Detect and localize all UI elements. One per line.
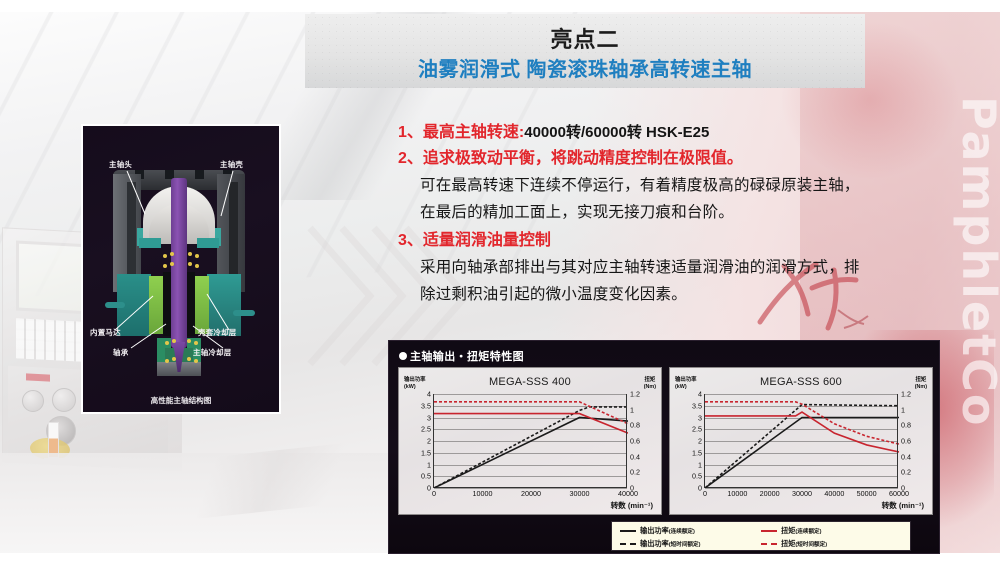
- chart-card-title-text: 主轴输出・扭矩特性图: [410, 351, 524, 363]
- series-layer: [705, 394, 899, 488]
- x-tick-label: 10000: [473, 489, 493, 498]
- feature-item-3: 3、 适量润滑油量控制 采用向轴承部排出与其对应主轴转速适量润滑油的润滑方式，排…: [398, 228, 870, 308]
- y-tick-label: 4: [427, 390, 431, 399]
- y-tick-label: 1.5: [692, 448, 702, 457]
- y-tick-label: 0: [427, 484, 431, 493]
- y-tick-label: 0.5: [692, 472, 702, 481]
- x-tick-label: 20000: [760, 489, 780, 498]
- y-tick-label: 2.5: [421, 425, 431, 434]
- y-tick-label: 1: [698, 460, 702, 469]
- feature-3-heading: 适量润滑油量控制: [423, 228, 551, 253]
- y2-axis-label: 扭矩(Nm): [915, 377, 927, 391]
- feature-3-body: 采用向轴承部排出与其对应主轴转速适量润滑油的润滑方式，排除过剩积油引起的微小温度…: [420, 254, 870, 308]
- legend-item: 输出功率(连续额定): [620, 524, 761, 537]
- x-axis-label: 转数 (min⁻¹): [611, 500, 653, 511]
- chart-card: 主轴输出・扭矩特性图 MEGA-SSS 400输出功率(kW)扭矩(Nm)转数 …: [388, 340, 940, 554]
- chart-title: MEGA-SSS 400: [399, 376, 661, 388]
- legend-swatch: [761, 543, 777, 545]
- y2-tick-label: 0.6: [901, 437, 911, 446]
- chart-card-title: 主轴输出・扭矩特性图: [399, 348, 524, 364]
- right-axis: [897, 394, 898, 487]
- diagram-label-spindle-head: 主轴头: [109, 159, 132, 170]
- feature-2-heading: 追求极致动平衡，将跳动精度控制在极限值。: [423, 146, 743, 171]
- x-axis-label: 转数 (min⁻¹): [882, 500, 924, 511]
- feature-item-1: 1、 最高主轴转速: 40000转/60000转 HSK-E25: [398, 120, 870, 145]
- legend-item: 扭矩(连续额定): [761, 524, 902, 537]
- y2-axis-label: 扭矩(Nm): [644, 377, 656, 391]
- y-tick-label: 2: [698, 437, 702, 446]
- y-tick-label: 1: [427, 460, 431, 469]
- diagram-caption: 高性能主轴结构图: [83, 395, 279, 406]
- legend-label: 扭矩(短时间额定): [781, 539, 827, 549]
- feature-3-number: 3、: [398, 228, 423, 253]
- chart-mega-sss-400: MEGA-SSS 400输出功率(kW)扭矩(Nm)转数 (min⁻¹)00.5…: [398, 367, 662, 515]
- page-title: 亮点二: [305, 22, 865, 54]
- y2-tick-label: 0.8: [630, 421, 640, 430]
- legend-swatch: [761, 530, 777, 532]
- y-tick-label: 2.5: [692, 425, 702, 434]
- chart-title: MEGA-SSS 600: [670, 376, 932, 388]
- feature-item-2: 2、 追求极致动平衡，将跳动精度控制在极限值。 可在最高转速下连续不停运行，有着…: [398, 146, 870, 226]
- y-tick-label: 0.5: [421, 472, 431, 481]
- right-axis: [626, 394, 627, 487]
- y2-tick-label: 0.4: [901, 452, 911, 461]
- filled-circle-icon: [399, 352, 407, 360]
- legend-swatch: [620, 530, 636, 532]
- legend-label: 输出功率(连续额定): [640, 526, 695, 536]
- y-axis-label: 输出功率(kW): [404, 377, 426, 391]
- y2-tick-label: 0.2: [630, 468, 640, 477]
- y-axis-label: 输出功率(kW): [675, 377, 697, 391]
- series-line: [705, 402, 899, 444]
- vertical-watermark: PamphletCo: [952, 96, 1000, 427]
- bottom-white-strip: [0, 553, 1000, 563]
- y-tick-label: 2: [427, 437, 431, 446]
- y2-tick-label: 1: [630, 405, 634, 414]
- legend-label: 扭矩(连续额定): [781, 526, 822, 536]
- diagram-label-bearing: 轴承: [113, 347, 128, 358]
- x-tick-label: 50000: [857, 489, 877, 498]
- y-tick-label: 3: [698, 413, 702, 422]
- feature-2-number: 2、: [398, 146, 423, 171]
- legend-swatch: [620, 543, 636, 545]
- y-tick-label: 3: [427, 413, 431, 422]
- poster-page: PamphletCo 亮点二 油雾润滑式 陶瓷滚珠轴承高转速主轴: [0, 0, 1000, 563]
- top-white-strip: [0, 0, 1000, 12]
- feature-1-heading: 最高主轴转速:: [423, 120, 524, 145]
- y-tick-label: 3.5: [421, 401, 431, 410]
- series-line: [705, 418, 899, 489]
- series-line: [434, 418, 628, 489]
- x-tick-label: 20000: [521, 489, 541, 498]
- y-tick-label: 4: [698, 390, 702, 399]
- diagram-label-spindle-shell: 主轴壳: [220, 159, 243, 170]
- x-tick-label: 0: [703, 489, 707, 498]
- legend-item: 扭矩(短时间额定): [761, 537, 902, 550]
- page-subtitle: 油雾润滑式 陶瓷滚珠轴承高转速主轴: [305, 53, 865, 82]
- x-tick-label: 60000: [889, 489, 909, 498]
- series-line: [434, 414, 628, 434]
- chart-legend: 输出功率(连续额定)扭矩(连续额定)输出功率(短时间额定)扭矩(短时间额定): [611, 521, 911, 551]
- x-tick-label: 10000: [727, 489, 747, 498]
- feature-1-number: 1、: [398, 120, 423, 145]
- x-tick-label: 30000: [792, 489, 812, 498]
- feature-list: 1、 最高主轴转速: 40000转/60000转 HSK-E25 2、 追求极致…: [398, 120, 870, 308]
- plot-area: 00.511.522.533.5400.20.40.60.811.2010000…: [433, 394, 627, 488]
- spindle-diagram-panel: 主轴头 主轴壳 内置马达 轴承 壳套冷却层 主轴冷却层 高性能主轴结构图: [81, 124, 281, 414]
- y2-tick-label: 1: [901, 405, 905, 414]
- y-tick-label: 1.5: [421, 448, 431, 457]
- x-tick-label: 30000: [570, 489, 590, 498]
- x-tick-label: 40000: [618, 489, 638, 498]
- diagram-label-built-in-motor: 内置马达: [90, 327, 121, 338]
- y2-tick-label: 1.2: [901, 390, 911, 399]
- x-tick-label: 40000: [824, 489, 844, 498]
- y-tick-label: 0: [698, 484, 702, 493]
- legend-label: 输出功率(短时间额定): [640, 539, 700, 549]
- series-layer: [434, 394, 628, 488]
- y2-tick-label: 0.8: [901, 421, 911, 430]
- y2-tick-label: 0.6: [630, 437, 640, 446]
- diagram-label-spindle-cooling-layer: 主轴冷却层: [193, 347, 231, 358]
- x-tick-label: 0: [432, 489, 436, 498]
- plot-area: 00.511.522.533.5400.20.40.60.811.2010000…: [704, 394, 898, 488]
- chart-mega-sss-600: MEGA-SSS 600输出功率(kW)扭矩(Nm)转数 (min⁻¹)00.5…: [669, 367, 933, 515]
- y2-tick-label: 1.2: [630, 390, 640, 399]
- diagram-label-shell-cooling-layer: 壳套冷却层: [198, 327, 236, 338]
- feature-1-value: 40000转/60000转 HSK-E25: [524, 120, 709, 145]
- y-tick-label: 3.5: [692, 401, 702, 410]
- y2-tick-label: 0.2: [901, 468, 911, 477]
- feature-2-body: 可在最高转速下连续不停运行，有着精度极高的碌碌原装主轴，在最后的精加工面上，实现…: [420, 172, 870, 226]
- y2-tick-label: 0.4: [630, 452, 640, 461]
- legend-item: 输出功率(短时间额定): [620, 537, 761, 550]
